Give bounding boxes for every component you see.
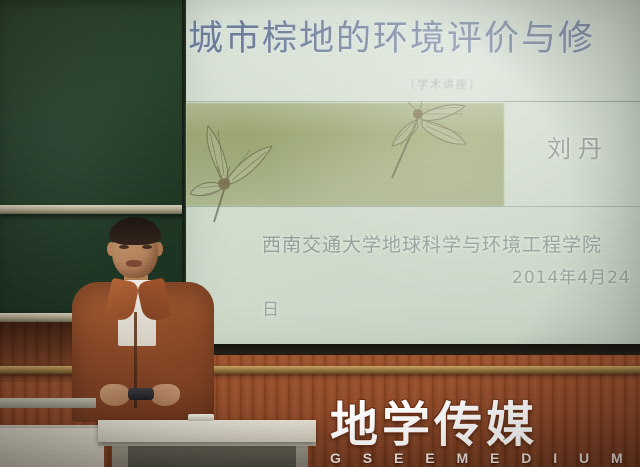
chalkboard-ledge-upper — [0, 205, 186, 214]
watermark-chinese-text: 地学传媒 — [330, 402, 636, 448]
slide-title: 城市棕地的环境评价与修 — [188, 16, 640, 62]
presenter-hand-left — [100, 384, 130, 406]
presenter-eye-left — [119, 245, 129, 249]
desk-bench-left — [0, 398, 96, 408]
slide-date-line-1: 2014年4月24 — [512, 263, 631, 288]
watermark-logo: 地学传媒 G S E E M E D I U M — [330, 402, 636, 466]
desk-left — [0, 428, 104, 467]
presenter-held-object — [128, 388, 154, 400]
presenter-hair — [109, 217, 161, 245]
watermark-english-text: G S E E M E D I U M — [330, 450, 636, 466]
slide-divider-top-right — [504, 101, 640, 102]
lectern-shelf — [128, 446, 296, 467]
lectern-top — [98, 420, 316, 442]
slide-speaker-name: 刘丹 — [547, 129, 609, 164]
slide-date-line-2: 日 — [262, 295, 279, 320]
presenter-hand-right — [150, 384, 180, 406]
presenter-eye-right — [142, 245, 152, 249]
slide-divider-bottom — [186, 206, 640, 207]
slide-subtitle: （学术讲座） — [404, 76, 482, 92]
screen-bottom-bar — [186, 344, 640, 355]
lectern-small-object — [188, 414, 214, 421]
lecture-photo: 城市棕地的环境评价与修 （学术讲座） 刘丹 西南交通大学地球科学与环境工程学院 … — [0, 0, 640, 467]
presenter — [60, 216, 225, 416]
slide-organization: 西南交通大学地球科学与环境工程学院 — [262, 230, 602, 257]
slide-photo-band-overlay — [186, 103, 504, 206]
presenter-mouth — [126, 260, 142, 267]
